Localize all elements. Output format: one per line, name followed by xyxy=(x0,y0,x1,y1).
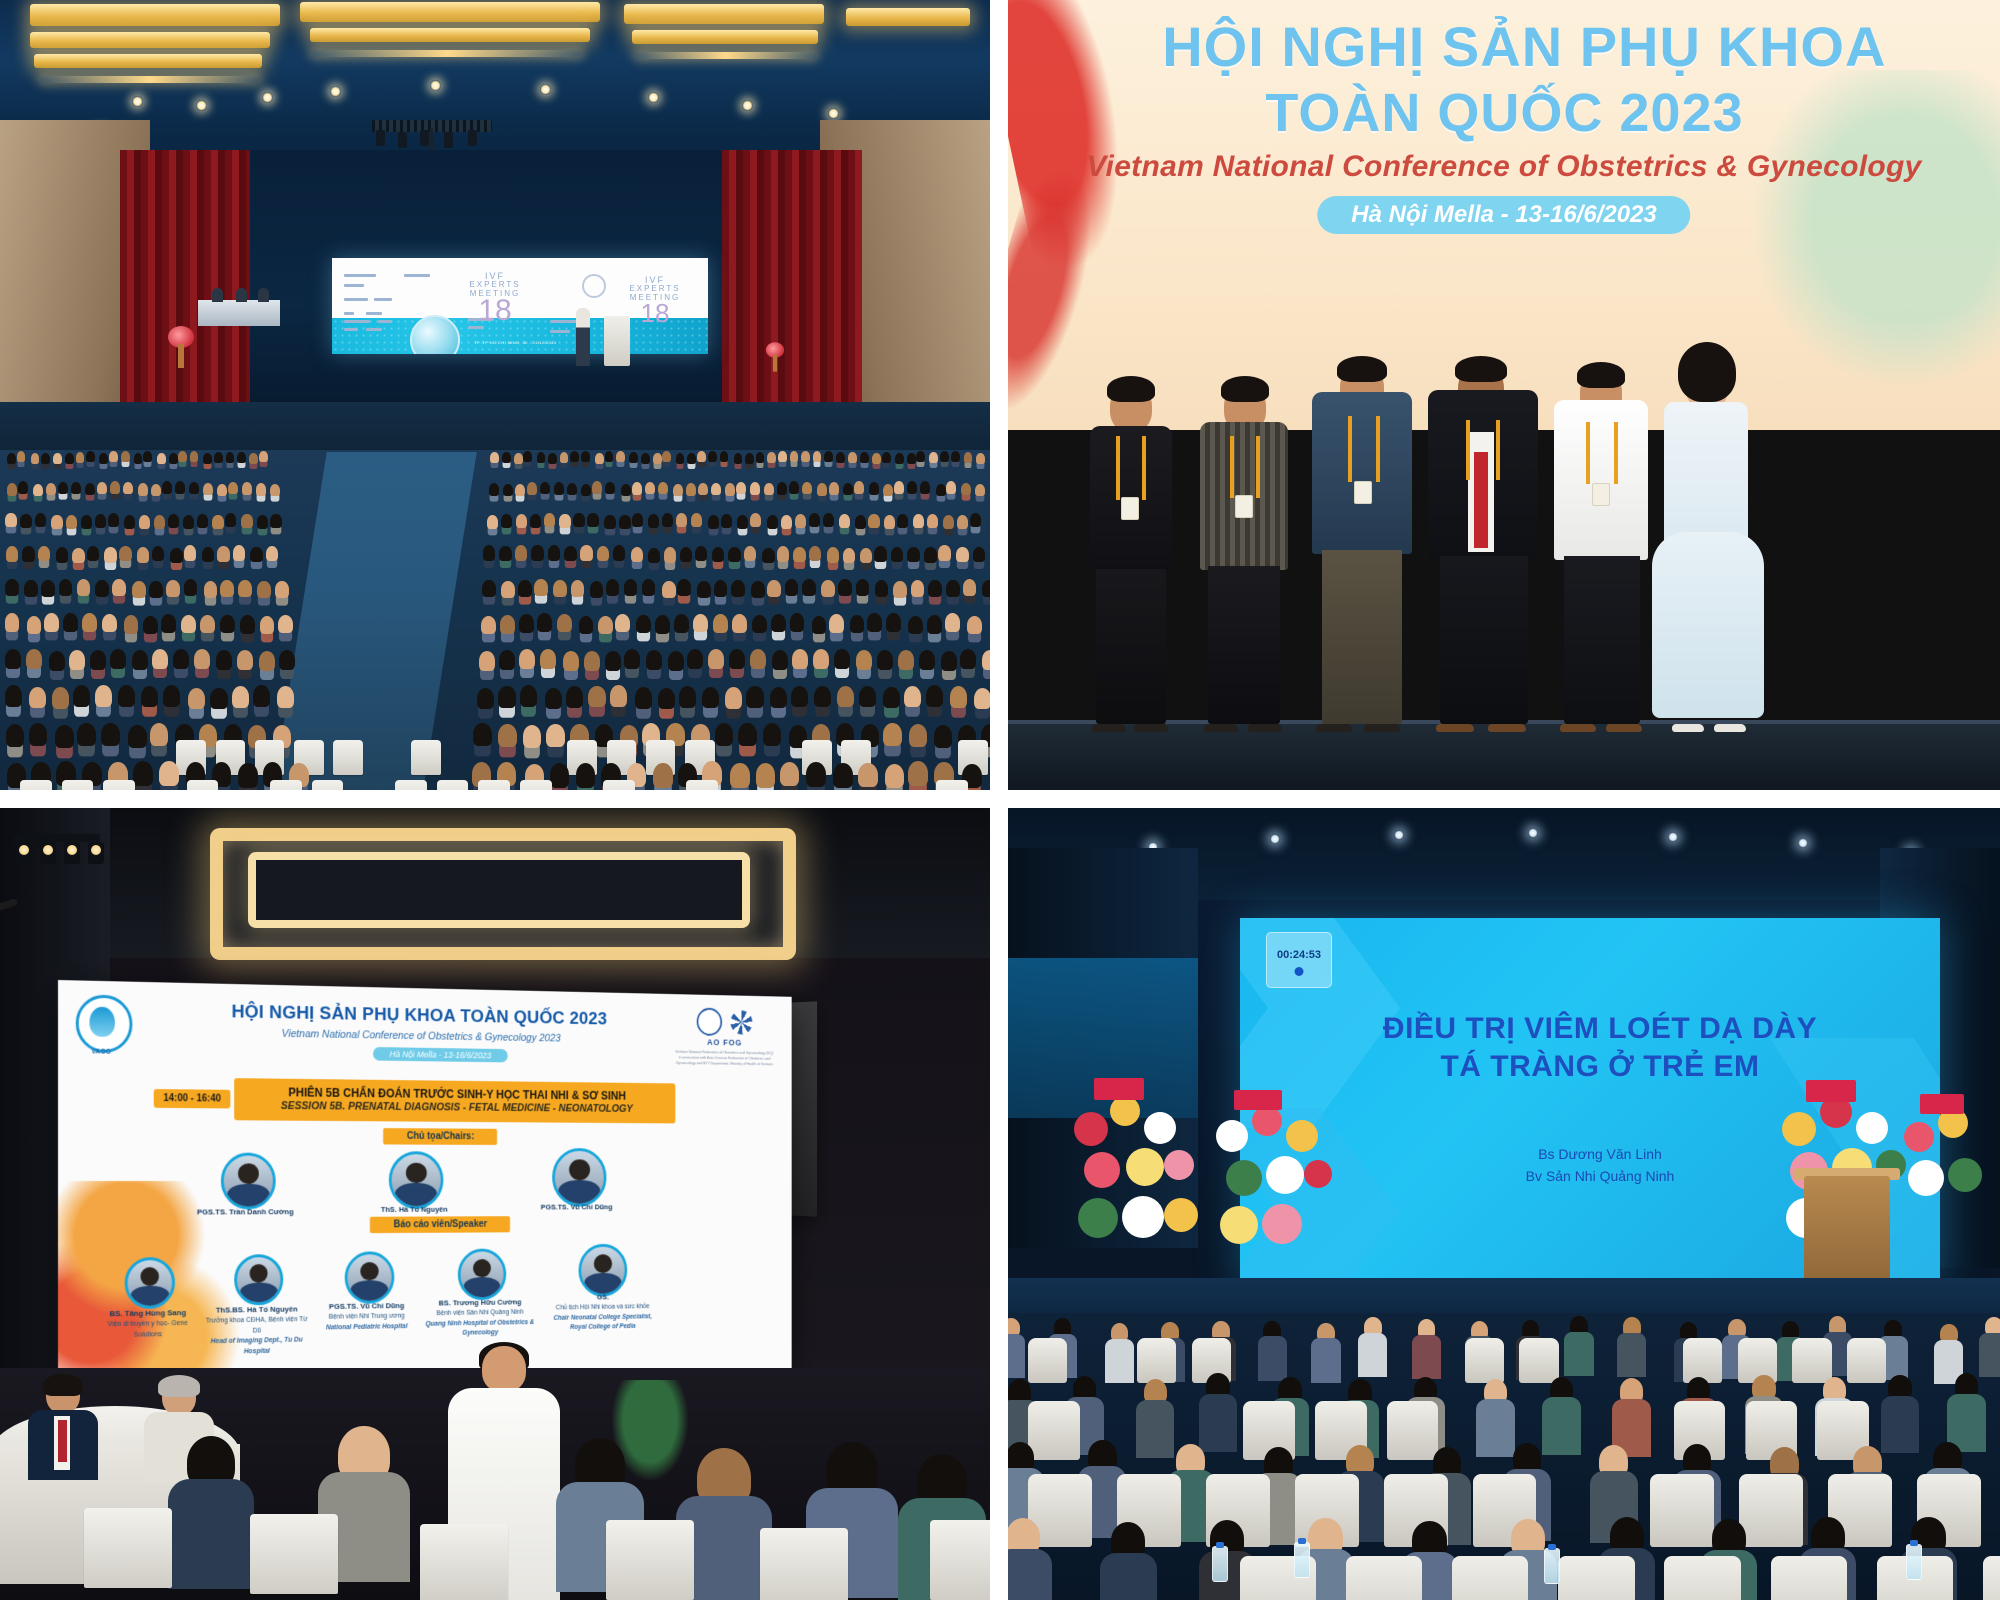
audience-person xyxy=(168,514,179,528)
audience-person xyxy=(860,452,869,463)
audience-person xyxy=(499,650,515,670)
audience-person xyxy=(904,686,921,708)
audience-person xyxy=(216,650,232,670)
audience-person xyxy=(523,451,532,462)
audience-person xyxy=(645,482,655,495)
audience-person xyxy=(141,686,158,708)
audience-person xyxy=(46,483,56,496)
audience-person xyxy=(202,547,214,563)
audience-person xyxy=(882,452,891,463)
audience-person xyxy=(501,581,515,598)
audience-person xyxy=(119,546,131,562)
audience-person xyxy=(498,686,515,708)
audience-person xyxy=(750,649,766,669)
audience-person xyxy=(943,515,954,529)
audience-person xyxy=(270,484,280,497)
chair xyxy=(437,780,469,790)
audience-person xyxy=(859,686,876,708)
audience-person xyxy=(151,484,161,497)
audience-person xyxy=(81,515,92,529)
water-bottle xyxy=(1906,1544,1922,1580)
audience-person xyxy=(801,451,810,462)
audience-person xyxy=(557,614,572,633)
panel-auditorium-wide-shot: IVF EXPERTS MEETING 18 IVF EXPERTS MEETI… xyxy=(0,0,990,790)
audience-person xyxy=(24,580,38,597)
audience-person xyxy=(544,513,555,527)
audience-person xyxy=(546,724,564,747)
audience-person xyxy=(590,581,604,598)
chair xyxy=(930,1520,990,1600)
audience-person xyxy=(833,763,853,788)
audience-person xyxy=(635,687,652,709)
audience-person xyxy=(104,547,116,563)
audience-person xyxy=(907,453,916,464)
audience-person xyxy=(102,614,117,633)
audience-person xyxy=(240,615,255,634)
banner-date-badge: Hà Nội Mella - 13-16/6/2023 xyxy=(1317,196,1690,234)
audience-person xyxy=(108,513,119,527)
audience-person xyxy=(570,451,579,462)
audience-person xyxy=(35,513,46,527)
audience-person xyxy=(714,580,728,597)
audience-person xyxy=(940,451,949,462)
audience-person xyxy=(109,451,118,462)
audience-person xyxy=(875,580,889,597)
audience-person xyxy=(483,545,495,561)
audience-person xyxy=(482,580,496,597)
audience-person xyxy=(110,649,126,669)
audience-person xyxy=(928,580,942,597)
audience-person xyxy=(679,686,696,708)
audience-person xyxy=(540,649,556,669)
audience-person xyxy=(99,453,108,464)
chair xyxy=(1465,1338,1504,1383)
audience-person xyxy=(950,686,967,708)
audience-person xyxy=(576,763,596,788)
audience-person xyxy=(641,453,650,464)
audience-person xyxy=(500,615,515,634)
audience-person xyxy=(580,545,592,561)
audience-person xyxy=(149,581,163,598)
audience-person xyxy=(813,649,829,669)
audience-person xyxy=(691,513,702,527)
audience-person xyxy=(848,452,857,463)
audience-person xyxy=(708,451,717,462)
audience-person xyxy=(720,451,729,462)
panel-lecture-hall: 00:24:53 ĐIỀU TRỊ VIÊM LOÉT DẠ DÀY TÁ TR… xyxy=(1008,808,2000,1600)
audience-person xyxy=(124,615,139,634)
audience-person xyxy=(919,650,935,670)
audience-person xyxy=(214,452,223,463)
audience-person xyxy=(132,650,148,670)
audience-person xyxy=(664,547,676,563)
audience-person xyxy=(767,515,778,529)
audience-person xyxy=(152,546,164,562)
audience-person xyxy=(233,545,245,561)
audience-person xyxy=(41,453,50,464)
audience-person xyxy=(473,723,491,746)
audience-person xyxy=(806,762,826,787)
audience-person xyxy=(73,685,90,707)
audience-person xyxy=(809,546,821,562)
audience-person xyxy=(762,548,774,564)
audience-person xyxy=(595,453,604,464)
audience-person xyxy=(695,546,707,562)
chair xyxy=(187,780,219,790)
audience-person xyxy=(518,580,532,597)
audience-person xyxy=(737,515,748,529)
audience-person xyxy=(169,453,178,464)
audience-person xyxy=(927,615,942,634)
chair xyxy=(84,1508,172,1588)
audience-person xyxy=(256,483,266,496)
audience-person xyxy=(527,482,537,495)
audience-person xyxy=(257,515,268,529)
audience-person xyxy=(621,484,631,497)
audience-person xyxy=(744,546,756,562)
audience-person xyxy=(523,725,541,748)
audience-person xyxy=(29,687,46,709)
audience-person xyxy=(559,514,570,528)
audience-person xyxy=(777,546,789,562)
audience-person xyxy=(924,547,936,563)
audience-person xyxy=(581,484,591,497)
front-row-audience xyxy=(0,808,990,1600)
audience-person xyxy=(821,580,835,597)
audience-person xyxy=(764,483,774,496)
audience-person xyxy=(946,481,956,494)
audience-person xyxy=(49,651,65,671)
audience-person xyxy=(778,451,787,462)
audience-person xyxy=(238,580,252,597)
audience-person xyxy=(850,615,865,634)
audience-person xyxy=(161,614,176,633)
audience-person xyxy=(1979,1317,2000,1376)
chair xyxy=(760,1528,848,1600)
audience-person xyxy=(1100,1522,1157,1600)
audience-person xyxy=(713,614,728,633)
audience-person xyxy=(624,649,640,669)
audience-person xyxy=(159,761,179,786)
audience-person xyxy=(790,613,805,632)
audience-person xyxy=(123,482,133,495)
audience-person xyxy=(65,453,74,464)
audience-person xyxy=(118,685,135,707)
audience-person xyxy=(226,452,235,463)
chair xyxy=(606,1520,694,1600)
chair xyxy=(1771,1556,1847,1600)
chair xyxy=(420,1524,508,1600)
audience-person xyxy=(632,513,643,527)
audience-person xyxy=(736,482,746,495)
audience-person xyxy=(573,513,584,527)
audience-person xyxy=(17,451,26,462)
audience-person xyxy=(548,545,560,561)
audience-person xyxy=(631,547,643,563)
audience-person xyxy=(166,580,180,597)
audience-person xyxy=(7,453,16,464)
audience-person xyxy=(929,452,938,463)
attendee-badge xyxy=(1592,483,1610,506)
audience-person xyxy=(731,580,745,597)
audience-person xyxy=(170,548,182,564)
audience-person xyxy=(534,579,548,596)
audience-person xyxy=(606,579,620,596)
chair xyxy=(20,780,52,790)
audience-person xyxy=(498,724,516,747)
audience-person xyxy=(827,547,839,563)
audience-person xyxy=(76,452,85,463)
audience-person xyxy=(938,545,950,561)
audience-person xyxy=(891,547,903,563)
audience-person xyxy=(907,481,917,494)
audience-person xyxy=(874,546,886,562)
audience-person xyxy=(721,514,732,528)
audience-person xyxy=(154,515,165,529)
audience-person xyxy=(648,548,660,564)
audience-person xyxy=(588,686,605,708)
audience-person xyxy=(260,616,275,635)
audience-person xyxy=(673,484,683,497)
audience-person xyxy=(520,685,537,707)
audience-person xyxy=(90,650,106,670)
audience-person xyxy=(767,580,781,597)
audience-person xyxy=(490,452,499,463)
audience-person xyxy=(960,649,976,669)
audience-person xyxy=(792,649,808,669)
audience-person xyxy=(72,548,84,564)
audience-person xyxy=(545,688,562,710)
audience-person xyxy=(936,484,946,497)
audience-person xyxy=(124,515,135,529)
audience-person xyxy=(909,724,927,747)
audience-person xyxy=(6,724,24,747)
audience-person xyxy=(540,482,550,495)
audience-person xyxy=(502,452,511,463)
audience-person xyxy=(183,515,194,529)
audience-person xyxy=(836,452,845,463)
audience-person xyxy=(658,688,675,710)
audience-person xyxy=(5,685,22,707)
audience-person xyxy=(898,650,914,670)
audience-person xyxy=(785,579,799,596)
audience-person xyxy=(750,513,761,527)
chair xyxy=(478,780,510,790)
audience-person xyxy=(137,547,149,563)
audience-person xyxy=(26,649,42,669)
audience-person xyxy=(162,481,172,494)
audience-person xyxy=(537,452,546,463)
audience-person xyxy=(780,762,800,787)
audience-person xyxy=(592,481,602,494)
audience-person xyxy=(927,514,938,528)
attendee-badge xyxy=(1354,481,1372,504)
audience-person xyxy=(530,514,541,528)
audience-person xyxy=(266,546,278,562)
audience-person xyxy=(728,547,740,563)
attendee-badge xyxy=(1121,497,1139,520)
audience-person xyxy=(584,651,600,671)
audience-person xyxy=(1564,1316,1593,1375)
audience-person xyxy=(791,686,808,708)
audience-person xyxy=(564,546,576,562)
audience-person xyxy=(770,687,787,709)
audience-person xyxy=(197,514,208,528)
audience-person xyxy=(217,484,227,497)
chair xyxy=(333,740,363,775)
audience-person xyxy=(1311,1323,1340,1382)
audience-person xyxy=(838,579,852,596)
audience-person xyxy=(756,452,765,463)
audience-person xyxy=(823,513,834,527)
audience-person xyxy=(249,453,258,464)
audience-person xyxy=(715,723,733,746)
audience-person xyxy=(745,453,754,464)
audience-person xyxy=(110,481,120,494)
audience-person xyxy=(711,483,721,496)
audience-person xyxy=(1617,1317,1646,1376)
audience-person xyxy=(5,579,19,596)
water-bottle xyxy=(1212,1546,1228,1582)
chair xyxy=(1137,1338,1176,1383)
audience-person xyxy=(616,451,625,462)
audience-person xyxy=(184,545,196,561)
audience-person xyxy=(956,547,968,563)
audience-person xyxy=(86,451,95,462)
audience-person xyxy=(662,581,676,598)
audience-person xyxy=(668,651,684,671)
audience-person xyxy=(563,651,579,671)
audience-person xyxy=(982,650,990,670)
audience-person xyxy=(662,513,673,527)
audience-person xyxy=(817,483,827,496)
audience xyxy=(1008,808,2000,1600)
audience-person xyxy=(38,546,50,562)
audience-person xyxy=(920,481,930,494)
audience-person xyxy=(242,482,252,495)
audience-person xyxy=(975,484,985,497)
audience-person xyxy=(894,481,904,494)
audience-person xyxy=(877,650,893,670)
audience-person xyxy=(824,451,833,462)
audience-person xyxy=(982,580,990,597)
audience-person xyxy=(189,482,199,495)
audience-person xyxy=(974,688,990,710)
audience-person xyxy=(702,687,719,709)
audience-person xyxy=(95,580,109,597)
water-bottle xyxy=(1544,1548,1560,1584)
audience-person xyxy=(143,451,152,462)
audience-person xyxy=(112,579,126,596)
audience-person xyxy=(237,650,253,670)
audience-person xyxy=(121,451,130,462)
audience-person xyxy=(926,685,943,707)
audience-person xyxy=(275,581,289,598)
audience-person xyxy=(487,515,498,529)
audience-person xyxy=(241,514,252,528)
audience-person xyxy=(963,579,977,596)
audience-person xyxy=(970,513,981,527)
audience-person xyxy=(658,482,668,495)
audience-person xyxy=(885,764,905,789)
audience-person xyxy=(867,613,882,632)
audience-person xyxy=(59,579,73,596)
audience-person xyxy=(781,515,792,529)
audience-person xyxy=(58,482,68,495)
audience-person xyxy=(71,482,81,495)
audience-person xyxy=(515,545,527,561)
audience-person xyxy=(976,453,985,464)
audience-person xyxy=(751,581,765,598)
chair xyxy=(62,780,94,790)
audience-person xyxy=(629,452,638,463)
audience-person xyxy=(839,514,850,528)
audience-person xyxy=(1008,1518,1052,1600)
audience-person xyxy=(489,483,499,496)
audience-person xyxy=(31,453,40,464)
audience-person xyxy=(128,725,146,748)
audience-person xyxy=(51,515,62,529)
audience-person xyxy=(212,515,223,529)
chair xyxy=(1452,1556,1528,1600)
panel-session-stage: VAGO HỘI NGHỊ SẢN PHỤ KHOA TOÀN QUỐC 202… xyxy=(0,808,990,1600)
audience-person xyxy=(676,513,687,527)
audience-person xyxy=(746,686,763,708)
audience-person xyxy=(812,616,827,635)
chair xyxy=(1346,1556,1422,1600)
audience-person xyxy=(22,546,34,562)
chair xyxy=(250,1514,338,1594)
audience-person xyxy=(687,453,696,464)
stage-front xyxy=(1008,724,2000,790)
audience-person xyxy=(697,581,711,598)
audience-person xyxy=(597,546,609,562)
audience-person xyxy=(516,514,527,528)
audience-person xyxy=(204,581,218,598)
audience-person xyxy=(802,579,816,596)
audience-person xyxy=(29,723,47,746)
audience-person xyxy=(27,616,42,635)
audience-person xyxy=(277,686,294,708)
audience-person xyxy=(756,763,776,788)
audience-person xyxy=(605,482,615,495)
audience-person xyxy=(772,650,788,670)
audience-person xyxy=(676,453,685,464)
audience-person xyxy=(69,650,85,670)
audience-person xyxy=(138,483,148,496)
audience-person xyxy=(567,483,577,496)
audience-person xyxy=(732,614,747,633)
audience xyxy=(0,0,990,790)
audience-person xyxy=(655,615,670,634)
audience-person xyxy=(843,483,853,496)
audience-person xyxy=(790,451,799,462)
audience-person xyxy=(605,451,614,462)
audience-person xyxy=(133,761,153,786)
audience-person xyxy=(916,451,925,462)
audience-person xyxy=(886,613,901,632)
audience-person xyxy=(587,513,598,527)
audience-person xyxy=(7,483,17,496)
audience-person xyxy=(771,614,786,633)
audience-person xyxy=(537,613,552,632)
audience-person xyxy=(157,453,166,464)
audience-person xyxy=(184,579,198,596)
audience-person xyxy=(519,649,535,669)
audience-person xyxy=(653,763,673,788)
chair xyxy=(411,740,441,775)
audience-person xyxy=(913,514,924,528)
